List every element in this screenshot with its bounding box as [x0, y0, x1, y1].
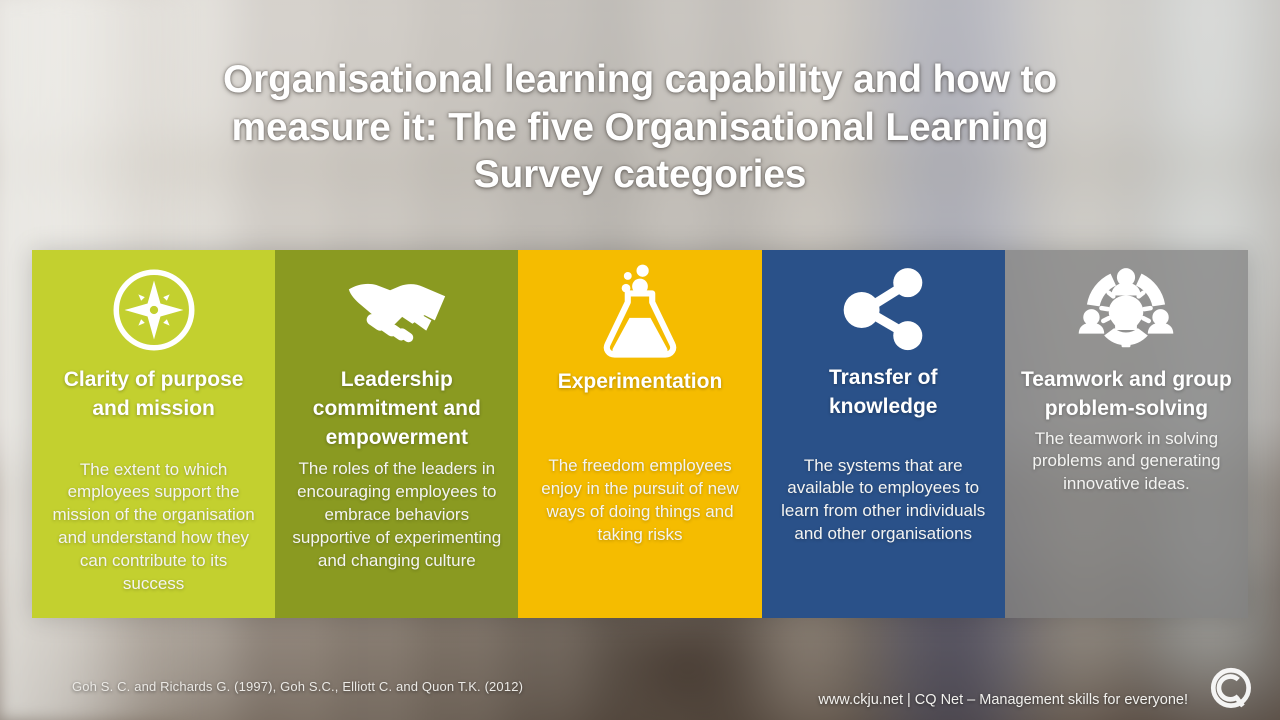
card-title: Leadership commitment and empowerment [287, 366, 506, 452]
teamwork-lightbulb-icon [1076, 258, 1176, 362]
card-title: Transfer of knowledge [774, 364, 993, 422]
card-clarity-of-purpose[interactable]: Clarity of purpose and mission The exten… [32, 250, 275, 618]
handshake-icon [345, 258, 449, 362]
card-leadership-commitment[interactable]: Leadership commitment and empowerment Th… [275, 250, 518, 618]
card-description: The teamwork in solving problems and gen… [1017, 428, 1236, 497]
card-description: The roles of the leaders in encouraging … [287, 458, 506, 573]
card-title: Experimentation [556, 368, 725, 397]
card-description: The systems that are available to employ… [774, 455, 993, 547]
card-description: The extent to which employees support th… [44, 459, 263, 597]
card-description: The freedom employees enjoy in the pursu… [530, 455, 749, 547]
page-title: Organisational learning capability and h… [0, 56, 1280, 199]
category-cards: Clarity of purpose and mission The exten… [32, 250, 1248, 618]
share-network-icon [836, 258, 930, 362]
footer-brand[interactable]: www.ckju.net | CQ Net – Management skill… [818, 692, 1188, 708]
card-title: Teamwork and group problem-solving [1017, 366, 1236, 424]
card-teamwork-problem-solving[interactable]: Teamwork and group problem-solving The t… [1005, 250, 1248, 618]
flask-icon [600, 258, 680, 362]
card-transfer-of-knowledge[interactable]: Transfer of knowledge The systems that a… [762, 250, 1005, 618]
slide: Organisational learning capability and h… [0, 0, 1280, 720]
compass-icon [108, 258, 200, 362]
card-title: Clarity of purpose and mission [44, 366, 263, 424]
footer-citation: Goh S. C. and Richards G. (1997), Goh S.… [72, 679, 523, 694]
card-experimentation[interactable]: Experimentation The freedom employees en… [518, 250, 761, 618]
cq-net-logo[interactable] [1206, 664, 1258, 716]
